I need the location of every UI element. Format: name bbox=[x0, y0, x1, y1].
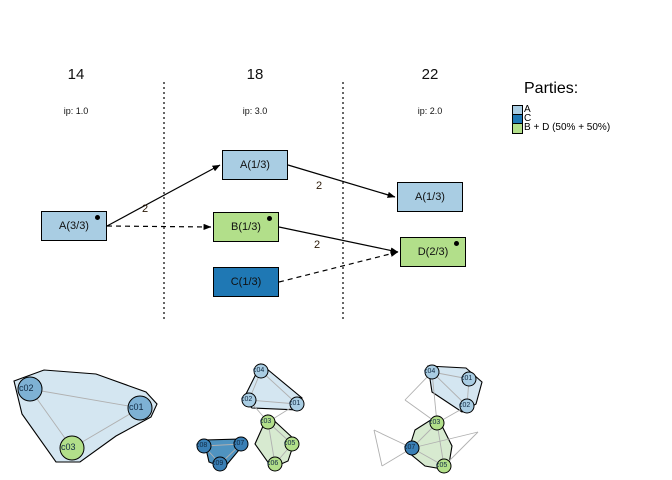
edge-b13-to-d23 bbox=[279, 227, 398, 252]
graph-right-stray-edge-5 bbox=[405, 372, 432, 400]
edge-weight-label: 2 bbox=[142, 203, 148, 215]
column-header-22: 22 bbox=[385, 66, 475, 83]
column-ip-18: ip: 3.0 bbox=[210, 106, 300, 116]
graph-left-link-0 bbox=[30, 389, 140, 408]
node-label: B(1/3) bbox=[231, 221, 261, 233]
edge-weight-label: 2 bbox=[314, 239, 320, 251]
edge-a33-to-a13m bbox=[107, 165, 220, 226]
g2-n7-label: c08 bbox=[196, 442, 207, 449]
edge-c13-to-d23 bbox=[279, 252, 398, 282]
edge-weight-label: 2 bbox=[316, 180, 322, 192]
g1-c02-label: c02 bbox=[19, 383, 34, 393]
graph-right-stray-edge-3 bbox=[412, 432, 478, 448]
g2-n1-label: c04 bbox=[253, 367, 264, 374]
column-ip-22: ip: 2.0 bbox=[385, 106, 475, 116]
graph-left-link-1 bbox=[30, 389, 72, 448]
g2-n6-label: c06 bbox=[267, 460, 278, 467]
marker-dot-icon bbox=[95, 215, 100, 220]
g2-n5-label: c05 bbox=[284, 440, 295, 447]
figure-canvas: 14ip: 1.018ip: 3.022ip: 2.0 A(3/3)A(1/3)… bbox=[0, 0, 672, 480]
g3-n2-label: c01 bbox=[461, 375, 472, 382]
node-label: A(3/3) bbox=[59, 220, 89, 232]
g3-n1-label: c04 bbox=[424, 368, 435, 375]
column-header-14: 14 bbox=[31, 66, 121, 83]
g2-n4-label: c03 bbox=[260, 418, 271, 425]
column-header-18: 18 bbox=[210, 66, 300, 83]
node-label: A(1/3) bbox=[415, 191, 445, 203]
legend-title: Parties: bbox=[524, 80, 578, 98]
graph-left bbox=[14, 370, 157, 462]
node-a-13-m[interactable]: A(1/3) bbox=[222, 150, 288, 180]
column-ip-14: ip: 1.0 bbox=[31, 106, 121, 116]
g1-hull-blue bbox=[14, 370, 157, 462]
g3-n6-label: c05 bbox=[436, 462, 447, 469]
node-label: A(1/3) bbox=[240, 159, 270, 171]
graph-right-link-5 bbox=[437, 423, 444, 466]
legend-item-bd-swatch bbox=[512, 123, 523, 134]
g2-n3-label: c01 bbox=[289, 400, 300, 407]
g3-hull-lightblue bbox=[428, 366, 482, 412]
graph-left-link-2 bbox=[72, 408, 140, 448]
g2-n9-label: c09 bbox=[212, 460, 223, 467]
graph-right-stray-edge-4 bbox=[444, 432, 478, 466]
g3-n4-label: c03 bbox=[429, 419, 440, 426]
legend-item-bd-label: B + D (50% + 50%) bbox=[524, 122, 610, 133]
node-label: D(2/3) bbox=[418, 246, 449, 258]
g1-c03-label: c03 bbox=[61, 442, 76, 452]
marker-dot-icon bbox=[454, 241, 459, 246]
node-a-13-r[interactable]: A(1/3) bbox=[397, 182, 463, 212]
edge-a13m-to-a13r bbox=[288, 165, 395, 197]
edge-a33-to-b13 bbox=[107, 226, 211, 227]
node-c-13[interactable]: C(1/3) bbox=[213, 267, 279, 297]
node-label: C(1/3) bbox=[231, 276, 262, 288]
g3-n3-label: c02 bbox=[459, 402, 470, 409]
graph-middle bbox=[197, 364, 304, 471]
marker-dot-icon bbox=[267, 216, 272, 221]
graph-right-link-7 bbox=[432, 372, 437, 423]
graph-right-link-4 bbox=[412, 423, 437, 448]
g1-c01-label: c01 bbox=[129, 402, 144, 412]
g3-n5-label: c07 bbox=[404, 444, 415, 451]
graph-right-stray-edge-1 bbox=[374, 430, 382, 466]
graph-middle-link-6 bbox=[268, 422, 275, 464]
g2-n8-label: c07 bbox=[233, 440, 244, 447]
g2-n2-label: c02 bbox=[241, 396, 252, 403]
